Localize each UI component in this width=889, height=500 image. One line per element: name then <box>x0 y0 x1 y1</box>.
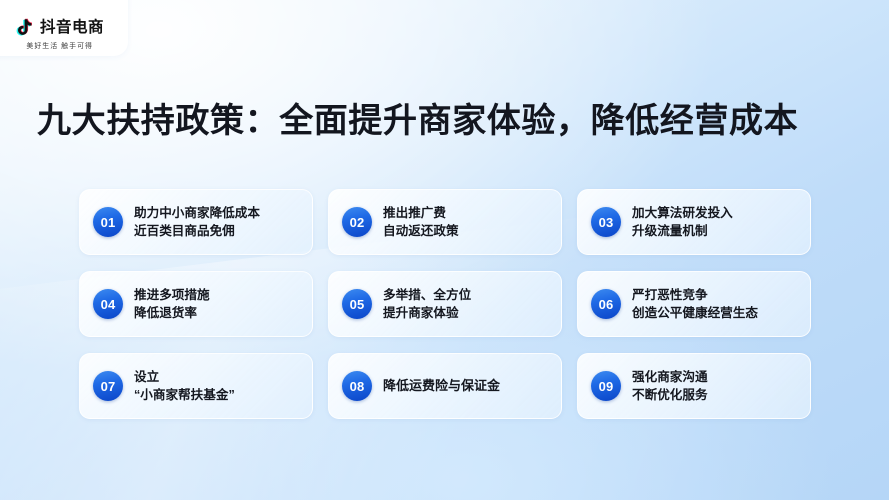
policy-card-text: 助力中小商家降低成本 近百类目商品免佣 <box>134 204 260 241</box>
brand-name: 抖音电商 <box>40 20 104 36</box>
policy-card-08[interactable]: 08 降低运费险与保证金 <box>328 353 562 419</box>
policy-number-badge: 06 <box>591 289 621 319</box>
policy-line-1: 加大算法研发投入 <box>632 206 733 220</box>
policy-number-badge: 04 <box>93 289 123 319</box>
tiktok-note-icon <box>16 18 35 38</box>
policy-number-badge: 01 <box>93 207 123 237</box>
policy-card-07[interactable]: 07 设立 “小商家帮扶基金” <box>79 353 313 419</box>
policy-card-01[interactable]: 01 助力中小商家降低成本 近百类目商品免佣 <box>79 189 313 255</box>
policy-card-06[interactable]: 06 严打恶性竞争 创造公平健康经营生态 <box>577 271 811 337</box>
policy-number-badge: 02 <box>342 207 372 237</box>
policy-line-2: 近百类目商品免佣 <box>134 222 260 240</box>
policy-line-1: 设立 <box>134 370 159 384</box>
policy-line-1: 强化商家沟通 <box>632 370 708 384</box>
policy-line-1: 多举措、全方位 <box>383 288 471 302</box>
policy-card-04[interactable]: 04 推进多项措施 降低退货率 <box>79 271 313 337</box>
brand-logo-panel: 抖音电商 美好生活 触手可得 <box>0 0 128 56</box>
policy-card-grid: 01 助力中小商家降低成本 近百类目商品免佣 02 推出推广费 自动返还政策 0… <box>79 189 811 419</box>
policy-card-text: 加大算法研发投入 升级流量机制 <box>632 204 733 241</box>
policy-card-text: 强化商家沟通 不断优化服务 <box>632 368 708 405</box>
brand-tagline: 美好生活 触手可得 <box>27 42 94 49</box>
policy-line-1: 推出推广费 <box>383 206 446 220</box>
policy-line-1: 严打恶性竞争 <box>632 288 708 302</box>
policy-line-2: “小商家帮扶基金” <box>134 386 235 404</box>
policy-card-05[interactable]: 05 多举措、全方位 提升商家体验 <box>328 271 562 337</box>
policy-card-text: 推进多项措施 降低退货率 <box>134 286 210 323</box>
policy-line-1: 助力中小商家降低成本 <box>134 206 260 220</box>
policy-line-2: 不断优化服务 <box>632 386 708 404</box>
policy-line-2: 自动返还政策 <box>383 222 459 240</box>
policy-number-badge: 05 <box>342 289 372 319</box>
policy-card-text: 多举措、全方位 提升商家体验 <box>383 286 471 323</box>
page-title: 九大扶持政策：全面提升商家体验，降低经营成本 <box>37 100 798 143</box>
policy-line-1: 降低运费险与保证金 <box>383 378 500 393</box>
policy-card-09[interactable]: 09 强化商家沟通 不断优化服务 <box>577 353 811 419</box>
policy-card-text: 推出推广费 自动返还政策 <box>383 204 459 241</box>
policy-line-2: 降低退货率 <box>134 304 210 322</box>
policy-number-badge: 03 <box>591 207 621 237</box>
policy-poster: 抖音电商 美好生活 触手可得 九大扶持政策：全面提升商家体验，降低经营成本 01… <box>0 0 889 500</box>
policy-line-2: 创造公平健康经营生态 <box>632 304 758 322</box>
policy-card-02[interactable]: 02 推出推广费 自动返还政策 <box>328 189 562 255</box>
policy-card-text: 降低运费险与保证金 <box>383 377 500 396</box>
policy-card-03[interactable]: 03 加大算法研发投入 升级流量机制 <box>577 189 811 255</box>
policy-card-text: 严打恶性竞争 创造公平健康经营生态 <box>632 286 758 323</box>
policy-number-badge: 09 <box>591 371 621 401</box>
policy-number-badge: 07 <box>93 371 123 401</box>
policy-line-1: 推进多项措施 <box>134 288 210 302</box>
policy-line-2: 升级流量机制 <box>632 222 733 240</box>
policy-card-text: 设立 “小商家帮扶基金” <box>134 368 235 405</box>
brand-logo-row: 抖音电商 <box>16 18 104 38</box>
policy-line-2: 提升商家体验 <box>383 304 471 322</box>
policy-number-badge: 08 <box>342 371 372 401</box>
